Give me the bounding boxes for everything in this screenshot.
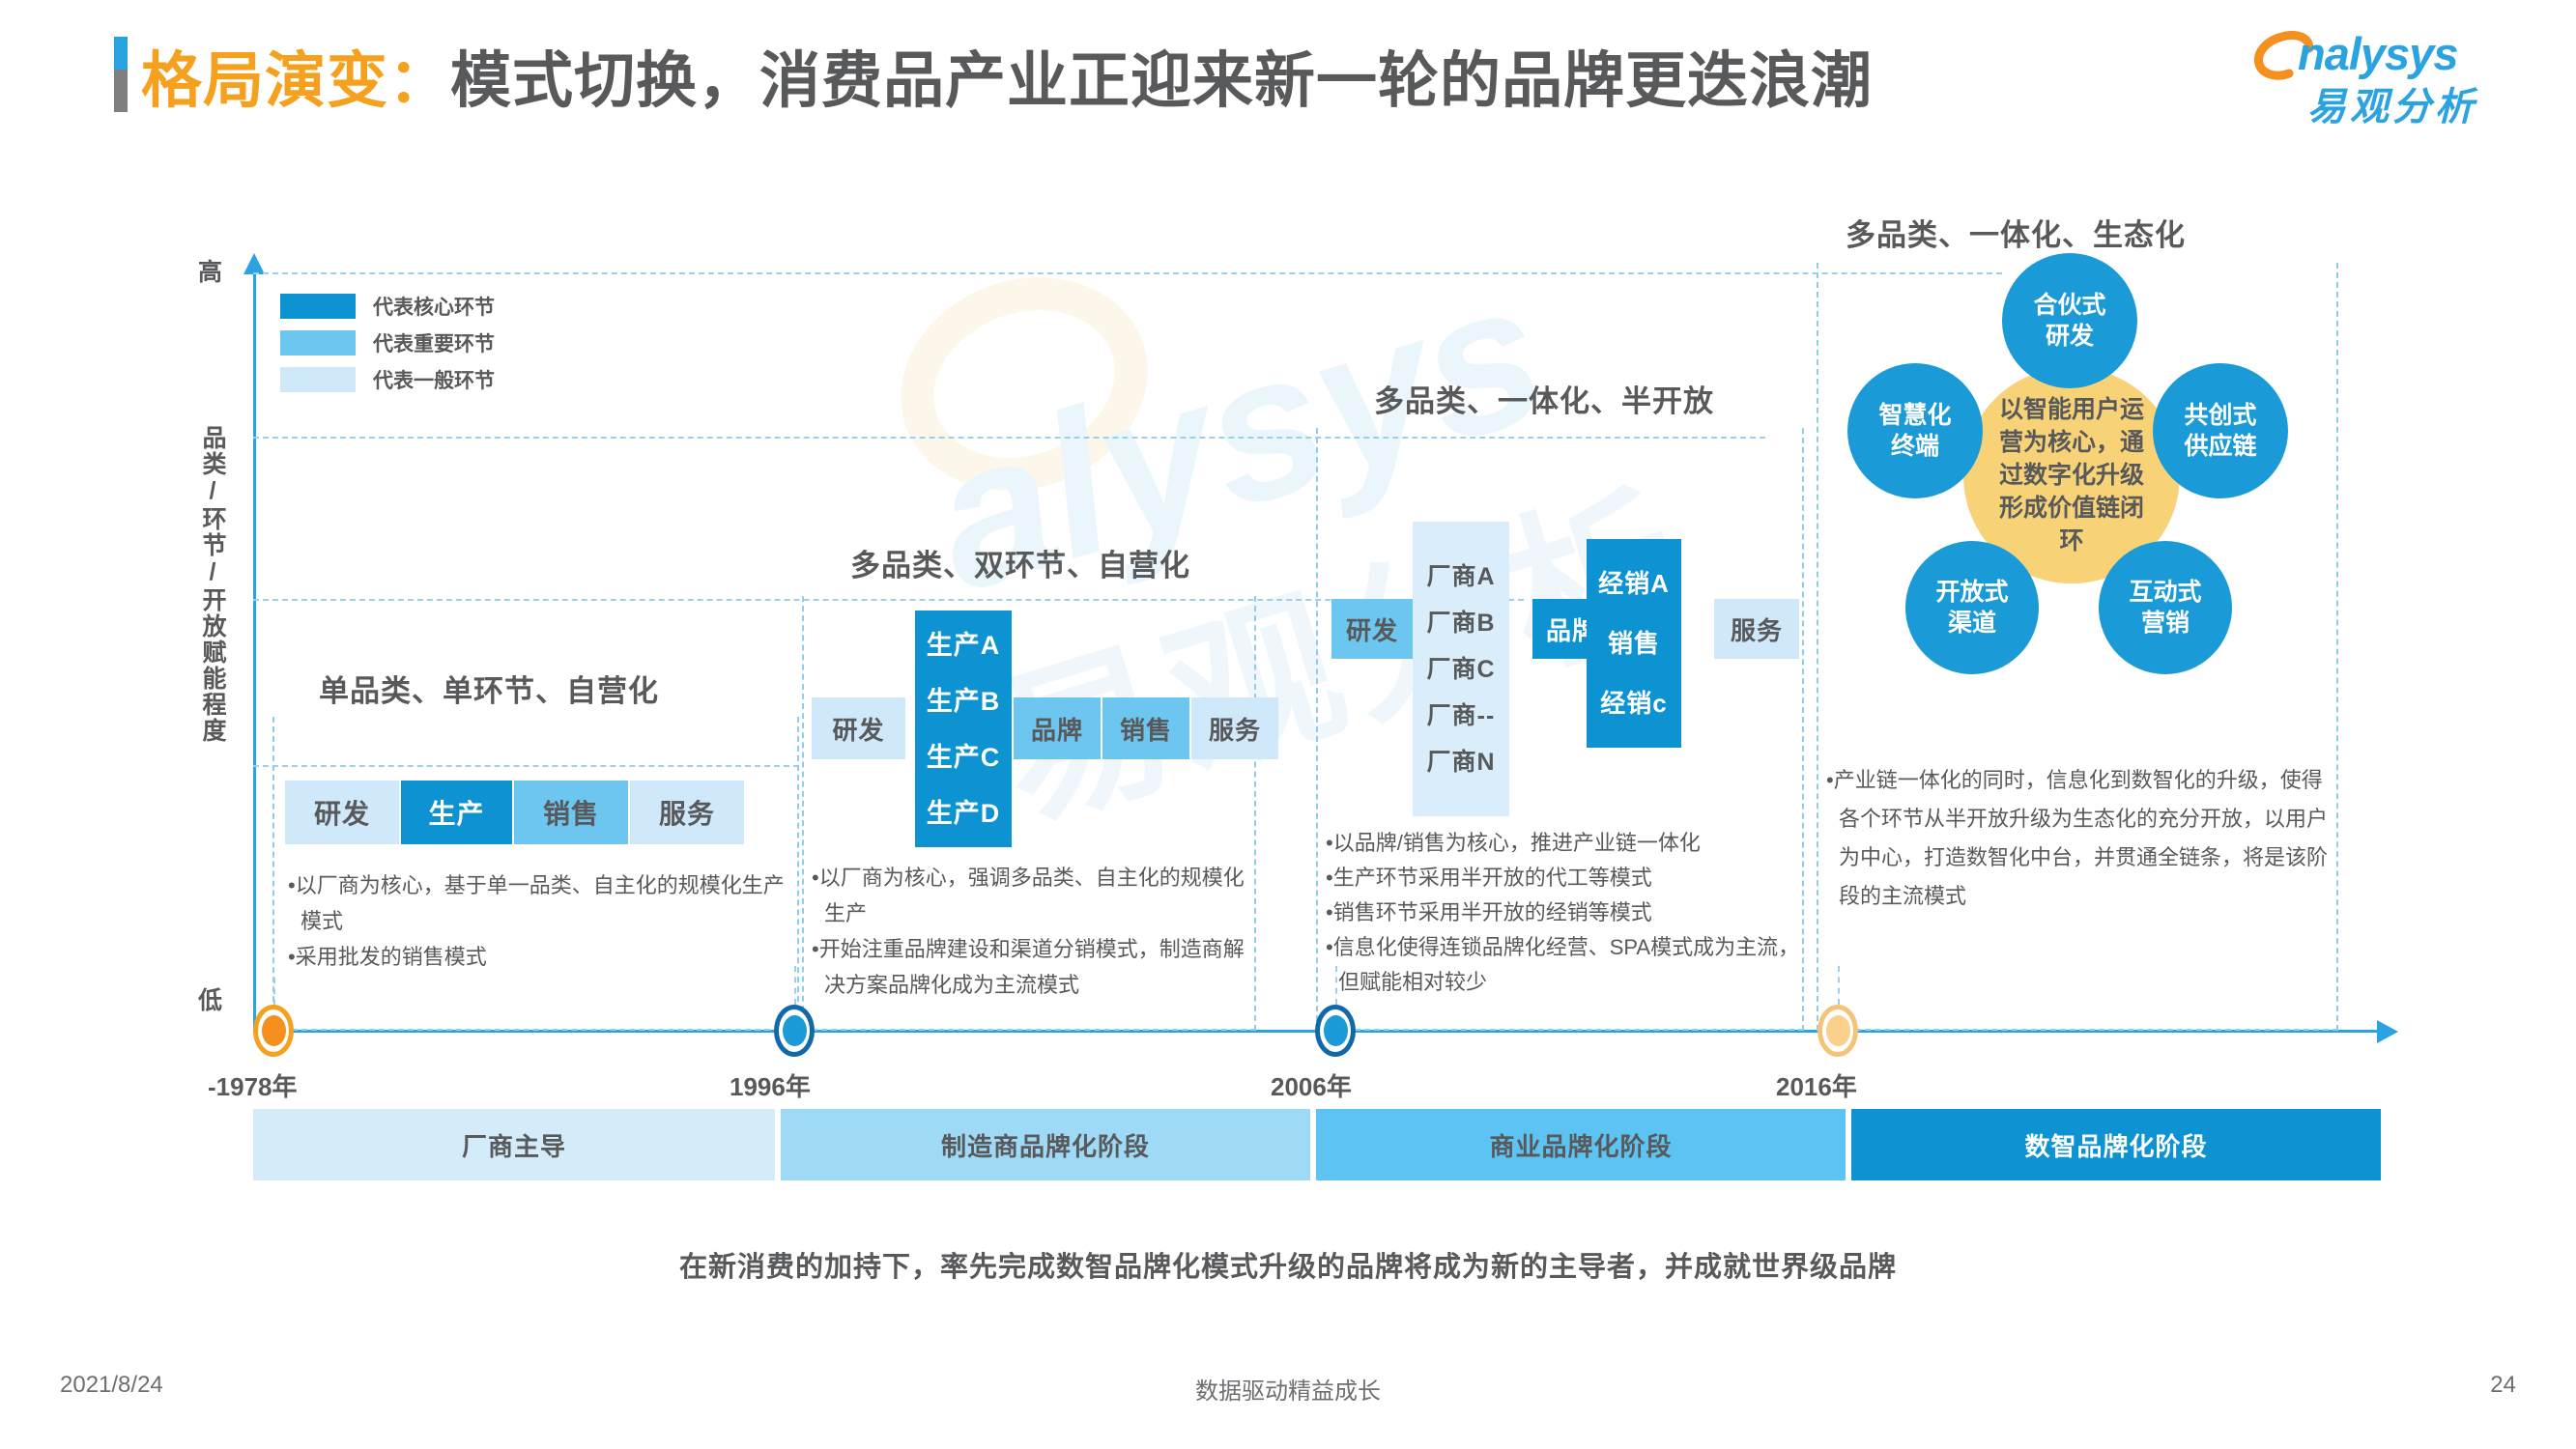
logo-wordmark: nalysys [2298,27,2457,80]
y-axis-arrow-icon [243,253,265,274]
distribution-line: 经销c [1600,673,1667,733]
maker-line: 厂商A [1426,554,1495,600]
legend-item: 代表重要环节 [280,325,495,361]
stage-4-title: 多品类、一体化、生态化 [1846,211,2186,254]
eco-circle-label: 智慧化终端 [1878,400,1951,462]
bullet: •信息化使得连锁品牌化经营、SPA模式成为主流，但赋能相对较少 [1326,930,1801,1000]
y-axis-line [253,270,256,1032]
page-title-highlight: 格局演变： [141,32,450,120]
distribution-line: 经销A [1598,554,1670,613]
chain-node-rd[interactable]: 研发 [812,697,905,759]
eco-circle-supply[interactable]: 共创式供应链 [2153,363,2288,498]
slide-root: 格局演变： 模式切换，消费品产业正迎来新一轮的品牌更迭浪潮 nalysys 易观… [0,0,2576,1449]
logo-chinese: 易观分析 [2307,75,2477,131]
production-line: 生产C [927,729,1001,785]
legend-swatch-core [280,294,356,319]
chain-node-service[interactable]: 服务 [1191,697,1278,759]
stage-2-bullets: •以厂商为核心，强调多品类、自主化的规模化生产 •开始注重品牌建设和渠道分销模式… [812,860,1246,1003]
tick-stem [1335,966,1337,1005]
bullet: •销售环节采用半开放的经销等模式 [1326,895,1801,930]
timeline-label-2006: 2006年 [1271,1067,1352,1103]
timeline-tick-2016[interactable] [1818,1005,1858,1057]
guide-line-1 [253,272,2002,274]
chain-node-rd[interactable]: 研发 [285,781,399,844]
timeline-label-2016: 2016年 [1776,1067,1857,1103]
stage-2-title: 多品类、双环节、自营化 [850,541,1190,584]
chain-node-maker-group[interactable]: 厂商A 厂商B 厂商C 厂商-- 厂商N [1413,522,1509,816]
chain-node-sales[interactable]: 销售 [514,781,628,844]
chain-node-rd[interactable]: 研发 [1331,599,1413,659]
legend-swatch-important [280,330,356,355]
watermark-ring-icon [871,243,1178,525]
eco-circle-label: 互动式营销 [2129,577,2201,639]
maker-line: 厂商C [1426,646,1495,693]
eco-circle-terminal[interactable]: 智慧化终端 [1847,363,1983,498]
production-line: 生产A [927,617,1001,673]
stage-3-bullets: •以品牌/销售为核心，推进产业链一体化 •生产环节采用半开放的代工等模式 •销售… [1326,826,1801,1000]
phase-bar-1[interactable]: 厂商主导 [253,1109,775,1180]
phase-bar-3[interactable]: 商业品牌化阶段 [1316,1109,1846,1180]
stage-1-bullets: •以厂商为核心，基于单一品类、自主化的规模化生产模式 •采用批发的销售模式 [288,867,795,975]
slide-caption: 在新消费的加持下，率先完成数智品牌化模式升级的品牌将成为新的主导者，并成就世界级… [0,1244,2576,1285]
chain-node-production[interactable]: 生产 [401,781,512,844]
bullet: •采用批发的销售模式 [288,939,795,975]
timeline-tick-1996[interactable] [774,1005,815,1057]
eco-circle-rd[interactable]: 合伙式研发 [2002,253,2137,388]
bullet: •产业链一体化的同时，信息化到数智化的升级，使得各个环节从半开放升级为生态化的充… [1826,761,2329,916]
phase-bar-4[interactable]: 数智品牌化阶段 [1851,1109,2381,1180]
timeline-label-1996: 1996年 [730,1067,811,1103]
page-title-rest: 模式切换，消费品产业正迎来新一轮的品牌更迭浪潮 [450,32,1873,120]
chain-node-sales[interactable]: 销售 [1102,697,1189,759]
maker-line: 厂商N [1426,739,1495,785]
eco-circle-channel[interactable]: 开放式渠道 [1905,541,2039,674]
chain-node-distribution-group[interactable]: 经销A 销售 经销c [1587,539,1681,748]
legend-swatch-general [280,367,356,392]
bullet: •以厂商为核心，基于单一品类、自主化的规模化生产模式 [288,867,795,939]
stage-3-chain: 研发 品牌 服务 [1331,599,1799,659]
bullet: •生产环节采用半开放的代工等模式 [1326,861,1801,895]
bullet: •以品牌/销售为核心，推进产业链一体化 [1326,826,1801,861]
phase-bar-2[interactable]: 制造商品牌化阶段 [781,1109,1310,1180]
bullet: •以厂商为核心，强调多品类、自主化的规模化生产 [812,860,1246,931]
eco-center-label: 以智能用户运营为核心，通过数字化升级形成价值链闭环 [1989,393,2155,557]
tick-stem [1838,966,1840,1005]
legend: 代表核心环节 代表重要环节 代表一般环节 [280,288,495,398]
distribution-line: 销售 [1608,613,1660,673]
eco-circle-label: 共创式供应链 [2184,400,2256,462]
stage-4-bullets: •产业链一体化的同时，信息化到数智化的升级，使得各个环节从半开放升级为生态化的充… [1826,761,2329,916]
chain-node-brand[interactable]: 品牌 [1014,697,1101,759]
stage-1-title: 单品类、单环节、自营化 [319,667,659,710]
analysys-logo: nalysys 易观分析 [2251,25,2541,127]
legend-label-core: 代表核心环节 [373,292,495,321]
legend-label-important: 代表重要环节 [373,328,495,357]
chain-node-service[interactable]: 服务 [630,781,744,844]
axis-high-label: 高 [198,253,222,288]
production-line: 生产B [927,673,1001,729]
stage-3-title: 多品类、一体化、半开放 [1374,377,1714,420]
footer-tagline: 数据驱动精益成长 [0,1372,2576,1406]
stage-1-chain: 研发 生产 销售 服务 [285,781,744,844]
page-title: 格局演变： 模式切换，消费品产业正迎来新一轮的品牌更迭浪潮 [141,37,1873,114]
title-accent-bar [114,37,128,112]
timeline-label-1978: -1978年 [208,1067,298,1103]
eco-circle-label: 合伙式研发 [2033,290,2105,352]
eco-circle-label: 开放式渠道 [1935,577,2008,639]
footer-page-number: 24 [2490,1372,2516,1399]
y-axis-label: 品类/环节/开放赋能程度 [193,425,232,744]
stage-2-chain: 研发 品牌 销售 服务 [812,697,1278,759]
legend-item: 代表核心环节 [280,288,495,325]
chain-node-service[interactable]: 服务 [1714,599,1799,659]
legend-item: 代表一般环节 [280,361,495,398]
timeline-tick-1978[interactable] [253,1005,294,1057]
maker-line: 厂商-- [1427,693,1496,739]
timeline-tick-2006[interactable] [1315,1005,1356,1057]
eco-circle-marketing[interactable]: 互动式营销 [2099,541,2232,674]
maker-line: 厂商B [1426,600,1495,646]
tick-stem [794,966,796,1005]
legend-label-general: 代表一般环节 [373,365,495,394]
x-axis-arrow-icon [2377,1020,2398,1043]
chain-node-production-group[interactable]: 生产A 生产B 生产C 生产D [915,611,1012,847]
ecosystem-diagram: 以智能用户运营为核心，通过数字化升级形成价值链闭环 合伙式研发 共创式供应链 互… [1817,263,2338,755]
bullet: •开始注重品牌建设和渠道分销模式，制造商解决方案品牌化成为主流模式 [812,931,1246,1003]
axis-low-label: 低 [198,981,222,1016]
production-line: 生产D [927,785,1001,841]
